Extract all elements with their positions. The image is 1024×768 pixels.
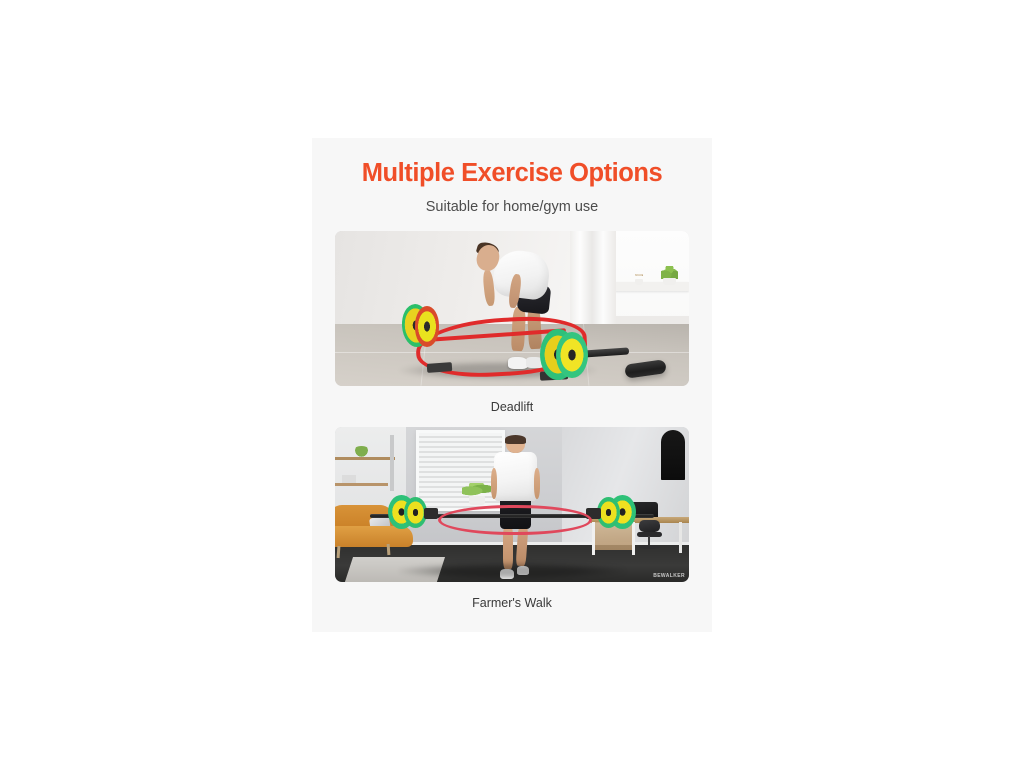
page-subtitle: Suitable for home/gym use <box>426 188 598 215</box>
image-watermark: BEWALKER <box>653 573 685 579</box>
exercise-photo-farmers-walk: BEWALKER <box>335 427 689 582</box>
barbell-foot <box>427 362 452 373</box>
feature-card: Multiple Exercise Options Suitable for h… <box>312 138 712 632</box>
shelf-books <box>342 475 356 483</box>
potted-grass-icon <box>633 271 644 285</box>
exercise-photo-deadlift <box>335 231 689 386</box>
wall-shelf <box>335 483 388 486</box>
resistance-band-frame <box>438 505 593 536</box>
office-chair <box>637 520 662 555</box>
page-title: Multiple Exercise Options <box>362 138 663 188</box>
shelf-post <box>390 435 394 491</box>
exercise-item-farmers-walk: BEWALKER Farmer's Walk <box>335 427 689 623</box>
exercise-item-deadlift: Deadlift <box>335 231 689 427</box>
potted-plant-icon <box>661 267 679 286</box>
weight-plate <box>415 306 440 346</box>
weight-plate <box>556 332 588 379</box>
wall-panel-art <box>661 430 686 480</box>
wall-shelf <box>335 457 395 460</box>
page-root: Multiple Exercise Options Suitable for h… <box>0 0 1024 768</box>
barbell-collar <box>424 508 438 519</box>
exercise-list: Deadlift <box>335 231 689 623</box>
baseboard <box>615 316 689 324</box>
exercise-caption: Farmer's Walk <box>472 582 552 623</box>
athlete-shadow <box>399 563 626 579</box>
shelf-plant-icon <box>353 446 371 457</box>
exercise-caption: Deadlift <box>491 386 533 427</box>
